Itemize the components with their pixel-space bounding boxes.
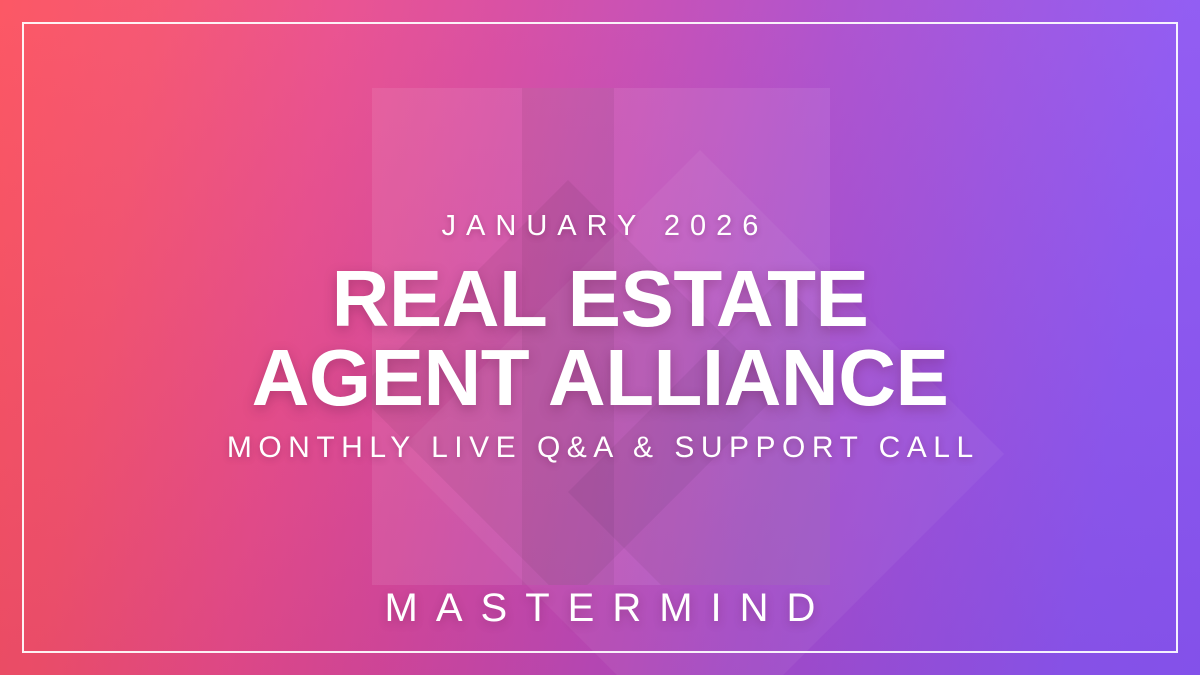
- page-title: REAL ESTATE AGENT ALLIANCE: [252, 259, 949, 417]
- date-eyebrow: JANUARY 2026: [432, 210, 769, 243]
- title-line-1: REAL ESTATE: [252, 259, 949, 338]
- title-card: JANUARY 2026 REAL ESTATE AGENT ALLIANCE …: [0, 0, 1200, 675]
- subtitle: MONTHLY LIVE Q&A & SUPPORT CALL: [220, 431, 979, 465]
- title-line-2: AGENT ALLIANCE: [252, 338, 949, 417]
- content-block: JANUARY 2026 REAL ESTATE AGENT ALLIANCE …: [0, 0, 1200, 675]
- brand-wordmark: MASTERMIND: [0, 586, 1200, 631]
